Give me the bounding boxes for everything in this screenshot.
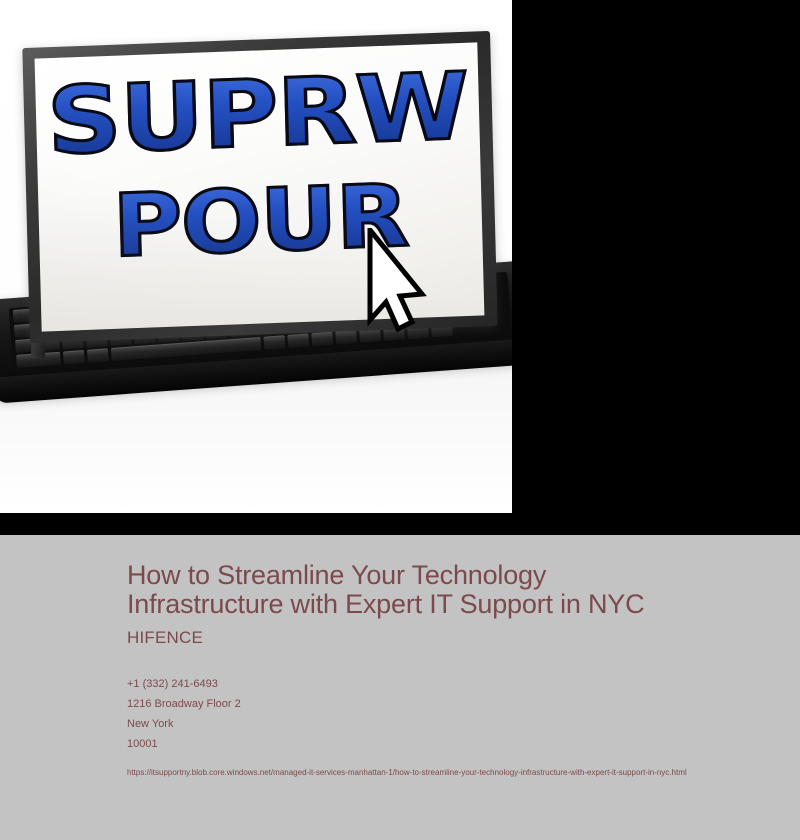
info-panel-content: How to Streamline Your Technology Infras… [127,561,792,784]
page-title: How to Streamline Your Technology Infras… [127,561,707,619]
source-url-link[interactable]: https://itsupportny.blob.core.windows.ne… [127,762,790,784]
contact-postal-code: 10001 [127,734,792,754]
contact-street: 1216 Broadway Floor 2 [127,694,792,714]
contact-phone: +1 (332) 241-6493 [127,674,792,694]
contact-block: +1 (332) 241-6493 1216 Broadway Floor 2 … [127,674,792,754]
hero-image-block: SUPRW POUR [0,0,800,535]
contact-city: New York [127,714,792,734]
screen-word-line-1: SUPRW [35,59,485,169]
mouse-pointer-arrow-icon [362,228,428,333]
hero-photo: SUPRW POUR [0,0,512,513]
document-info-panel: How to Streamline Your Technology Infras… [0,535,800,840]
brand-name: HIFENCE [127,628,792,648]
